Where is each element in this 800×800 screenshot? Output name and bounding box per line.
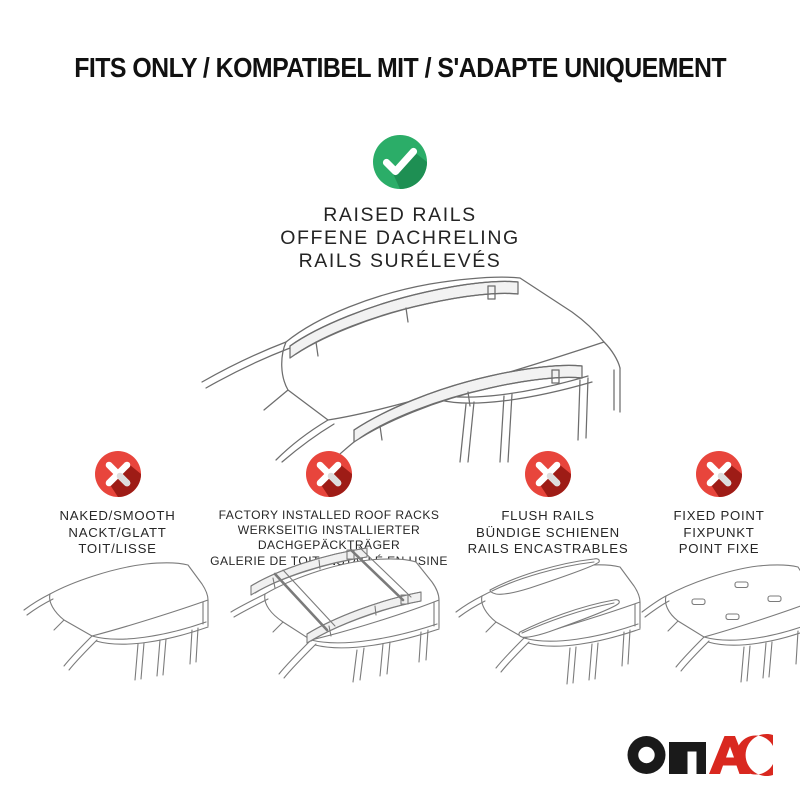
option-labels: NAKED/SMOOTH NACKT/GLATT TOIT/LISSE bbox=[20, 508, 215, 558]
option-label-en: FLUSH RAILS bbox=[448, 508, 648, 525]
option-flush-rails: FLUSH RAILS BÜNDIGE SCHIENEN RAILS ENCAS… bbox=[448, 450, 648, 558]
option-label-en: FACTORY INSTALLED ROOF RACKS bbox=[203, 508, 455, 523]
red-x-circle-icon bbox=[524, 450, 572, 498]
logo-letter-m bbox=[669, 742, 706, 774]
option-label-de-1: WERKSEITIG INSTALLIERTER bbox=[203, 523, 455, 538]
green-check-circle-icon bbox=[372, 134, 428, 190]
car-roof-naked-smooth-illustration bbox=[20, 554, 215, 689]
page-title: FITS ONLY / KOMPATIBEL MIT / S'ADAPTE UN… bbox=[74, 52, 726, 84]
car-roof-with-raised-rails-illustration bbox=[168, 272, 638, 462]
red-x-circle-icon bbox=[94, 450, 142, 498]
option-labels: FIXED POINT FIXPUNKT POINT FIXE bbox=[640, 508, 798, 558]
option-naked-smooth: NAKED/SMOOTH NACKT/GLATT TOIT/LISSE bbox=[20, 450, 215, 558]
incompatible-options-row: NAKED/SMOOTH NACKT/GLATT TOIT/LISSE bbox=[0, 450, 800, 700]
red-x-circle-icon bbox=[695, 450, 743, 498]
option-label-en: NAKED/SMOOTH bbox=[20, 508, 215, 525]
option-fixed-point: FIXED POINT FIXPUNKT POINT FIXE bbox=[640, 450, 798, 558]
option-labels: FLUSH RAILS BÜNDIGE SCHIENEN RAILS ENCAS… bbox=[448, 508, 648, 558]
option-factory-roof-racks: FACTORY INSTALLED ROOF RACKS WERKSEITIG … bbox=[203, 450, 455, 569]
compatible-labels: RAISED RAILS OFFENE DACHRELING RAILS SUR… bbox=[0, 204, 800, 273]
option-label-en: FIXED POINT bbox=[640, 508, 798, 525]
compatible-label-en: RAISED RAILS bbox=[0, 204, 800, 227]
car-roof-fixed-point-illustration bbox=[640, 554, 798, 689]
option-label-de: FIXPUNKT bbox=[640, 525, 798, 542]
car-roof-flush-rails-illustration bbox=[448, 554, 648, 691]
page-title-bar: FITS ONLY / KOMPATIBEL MIT / S'ADAPTE UN… bbox=[0, 52, 800, 84]
compatible-label-de: OFFENE DACHRELING bbox=[0, 227, 800, 250]
omac-brand-logo bbox=[626, 734, 774, 776]
compatible-section: RAISED RAILS OFFENE DACHRELING RAILS SUR… bbox=[0, 134, 800, 273]
car-roof-factory-roof-rack-illustration bbox=[203, 542, 455, 689]
red-x-circle-icon bbox=[305, 450, 353, 498]
option-label-de: BÜNDIGE SCHIENEN bbox=[448, 525, 648, 542]
compatible-label-fr: RAILS SURÉLEVÉS bbox=[0, 250, 800, 273]
option-label-de: NACKT/GLATT bbox=[20, 525, 215, 542]
